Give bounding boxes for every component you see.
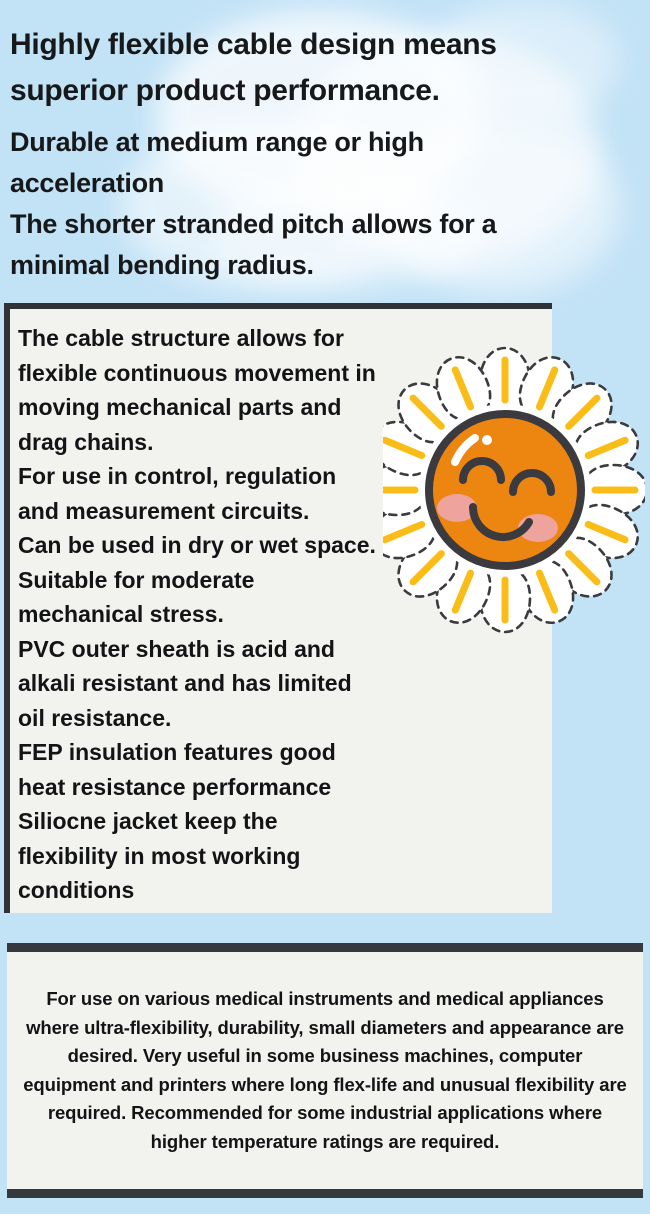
feature-line: moving mechanical parts and: [10, 390, 552, 425]
header-line-2: superior product performance.: [10, 68, 640, 114]
feature-line: PVC outer sheath is acid and: [10, 632, 552, 667]
header-line-1: Highly flexible cable design means: [10, 22, 640, 68]
features-text: The cable structure allows for flexible …: [10, 309, 552, 908]
feature-line: conditions: [10, 873, 552, 908]
feature-line: FEP insulation features good: [10, 735, 552, 770]
header-line-6: minimal bending radius.: [10, 245, 640, 286]
applications-text: For use on various medical instruments a…: [7, 985, 643, 1156]
feature-line: The cable structure allows for: [10, 321, 552, 356]
feature-line: For use in control, regulation: [10, 459, 552, 494]
feature-line: heat resistance performance: [10, 770, 552, 805]
feature-line: Suitable for moderate: [10, 563, 552, 598]
features-panel: The cable structure allows for flexible …: [4, 303, 552, 913]
header-block: Highly flexible cable design means super…: [10, 22, 640, 286]
feature-line: flexible continuous movement in: [10, 356, 552, 391]
feature-line: flexibility in most working: [10, 839, 552, 874]
applications-panel: For use on various medical instruments a…: [7, 943, 643, 1198]
feature-line: alkali resistant and has limited: [10, 666, 552, 701]
feature-line: drag chains.: [10, 425, 552, 460]
feature-line: mechanical stress.: [10, 597, 552, 632]
header-line-3: Durable at medium range or high: [10, 122, 640, 163]
feature-line: oil resistance.: [10, 701, 552, 736]
feature-line: Can be used in dry or wet space.: [10, 528, 552, 563]
header-line-5: The shorter stranded pitch allows for a: [10, 204, 640, 245]
feature-line: and measurement circuits.: [10, 494, 552, 529]
header-line-4: acceleration: [10, 163, 640, 204]
feature-line: Siliocne jacket keep the: [10, 804, 552, 839]
header-spacer: [10, 114, 640, 122]
